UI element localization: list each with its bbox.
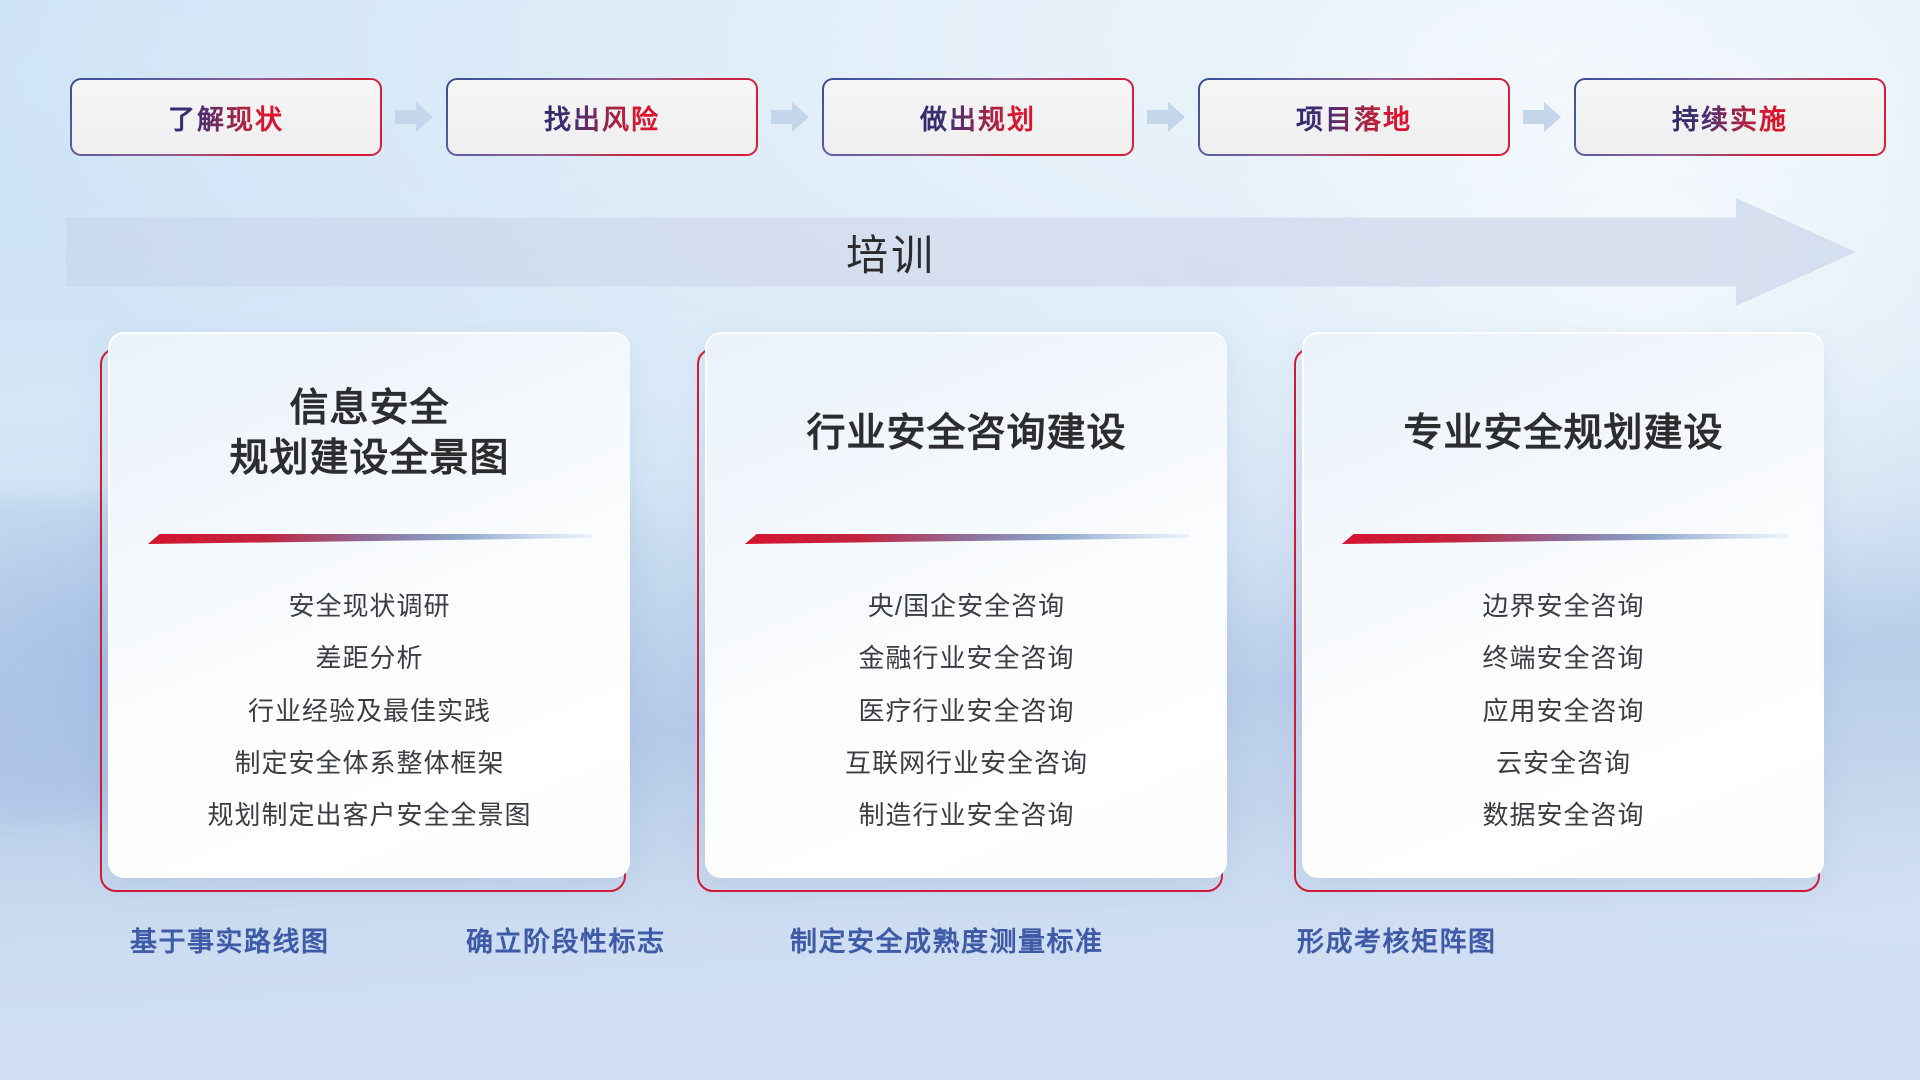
list-item: 制造行业安全咨询	[858, 795, 1074, 835]
process-step-5-group: 持续实施	[1576, 80, 1884, 154]
process-step-5-label: 持续实施	[1672, 98, 1788, 137]
list-item: 云安全咨询	[1496, 743, 1631, 783]
process-step-3-label: 做出规划	[920, 98, 1036, 137]
process-step-5[interactable]: 持续实施	[1576, 80, 1884, 154]
card-professional-security-planning[interactable]: 专业安全规划建设	[1294, 332, 1824, 892]
card-title: 行业安全咨询建设	[741, 380, 1192, 488]
process-step-4[interactable]: 项目落地	[1200, 80, 1508, 154]
list-item: 互联网行业安全咨询	[845, 743, 1088, 783]
card-item-list: 安全现状调研 差距分析 行业经验及最佳实践 制定安全体系整体框架 规划制定出客户…	[144, 586, 595, 835]
process-step-1-label: 了解现状	[168, 98, 284, 137]
process-step-4-group: 项目落地	[1200, 80, 1576, 154]
card-divider	[741, 532, 1190, 546]
process-step-1[interactable]: 了解现状	[72, 80, 380, 154]
list-item: 差距分析	[315, 638, 423, 678]
list-item: 终端安全咨询	[1482, 638, 1644, 678]
process-step-2-label: 找出风险	[544, 98, 660, 137]
card-divider	[144, 532, 593, 546]
list-item: 规划制定出客户安全全景图	[207, 795, 531, 835]
arrow-right-icon	[1522, 100, 1562, 134]
card-title-line-2: 规划建设全景图	[144, 434, 595, 484]
outcome-label-2: 确立阶段性标志	[466, 920, 666, 959]
card-information-security-blueprint[interactable]: 信息安全 规划建设全景图	[100, 332, 630, 892]
process-step-3-group: 做出规划	[824, 80, 1200, 154]
process-step-3[interactable]: 做出规划	[824, 80, 1132, 154]
process-step-2-group: 找出风险	[448, 80, 824, 154]
process-step-4-label: 项目落地	[1296, 98, 1412, 137]
card-title-line-1: 专业安全规划建设	[1338, 409, 1789, 459]
card-row: 信息安全 规划建设全景图	[100, 332, 1824, 892]
card-title-line-1: 行业安全咨询建设	[741, 409, 1192, 459]
card-item-list: 边界安全咨询 终端安全咨询 应用安全咨询 云安全咨询 数据安全咨询	[1338, 586, 1789, 835]
process-step-2[interactable]: 找出风险	[448, 80, 756, 154]
card-item-list: 央/国企安全咨询 金融行业安全咨询 医疗行业安全咨询 互联网行业安全咨询 制造行…	[741, 586, 1192, 835]
card-title: 信息安全 规划建设全景图	[144, 380, 595, 488]
card-industry-security-consulting[interactable]: 行业安全咨询建设	[697, 332, 1227, 892]
slide-canvas: 了解现状 找出风险 做出规划 项目落地	[0, 0, 1920, 1080]
card-body: 信息安全 规划建设全景图	[108, 332, 630, 878]
list-item: 边界安全咨询	[1482, 586, 1644, 626]
list-item: 行业经验及最佳实践	[248, 691, 491, 731]
card-body: 专业安全规划建设	[1302, 332, 1824, 878]
process-step-row: 了解现状 找出风险 做出规划 项目落地	[72, 80, 1848, 154]
outcome-label-3: 制定安全成熟度测量标准	[790, 920, 1104, 959]
outcome-label-row: 基于事实路线图 确立阶段性标志 制定安全成熟度测量标准 形成考核矩阵图	[0, 920, 1920, 976]
arrow-right-icon	[770, 100, 810, 134]
process-step-1-group: 了解现状	[72, 80, 448, 154]
outcome-label-4: 形成考核矩阵图	[1297, 920, 1497, 959]
training-banner: 培训	[66, 198, 1856, 306]
banner-label: 培训	[66, 198, 1856, 306]
list-item: 安全现状调研	[288, 586, 450, 626]
card-divider	[1338, 532, 1787, 546]
card-title-line-1: 信息安全	[144, 384, 595, 434]
card-body: 行业安全咨询建设	[705, 332, 1227, 878]
arrow-right-icon	[1146, 100, 1186, 134]
list-item: 医疗行业安全咨询	[858, 691, 1074, 731]
card-title: 专业安全规划建设	[1338, 380, 1789, 488]
list-item: 制定安全体系整体框架	[234, 743, 504, 783]
outcome-label-1: 基于事实路线图	[130, 920, 330, 959]
list-item: 央/国企安全咨询	[868, 586, 1065, 626]
list-item: 应用安全咨询	[1482, 691, 1644, 731]
list-item: 数据安全咨询	[1482, 795, 1644, 835]
arrow-right-icon	[394, 100, 434, 134]
list-item: 金融行业安全咨询	[858, 638, 1074, 678]
